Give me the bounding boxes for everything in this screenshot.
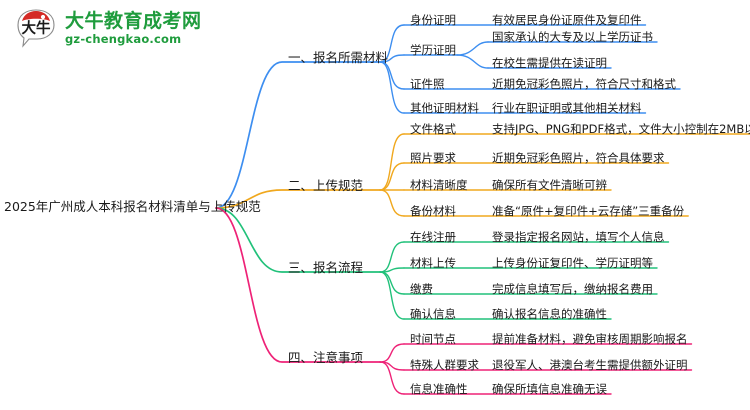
sub-label-2-1: 文件格式 [410,124,456,136]
logo-cn-name: 大牛教育成考网 [65,12,202,31]
sub-label-1-3: 证件照 [410,79,445,91]
detail-3-4: 确认报名信息的准确性 [492,309,607,321]
detail-2-2: 近期免冠彩色照片，符合具体要求 [492,153,665,165]
detail-4-3: 确保所填信息准确无误 [492,384,607,396]
mindmap-canvas: 大牛 大牛教育成考网 gz-chengkao.com 2025年广州成人本科报名… [0,0,750,410]
branch-label-2: 二、上传规范 [288,180,363,193]
detail-2-1: 支持JPG、PNG和PDF格式，文件大小控制在2MB以内 [492,124,750,136]
sub-label-3-2: 材料上传 [410,258,456,270]
svg-text:大牛: 大牛 [22,19,51,37]
detail-4-1: 提前准备材料，避免审核周期影响报名 [492,334,688,346]
detail-4-2: 退役军人、港澳台考生需提供额外证明 [492,360,688,372]
detail-1-1: 有效居民身份证原件及复印件 [492,15,642,27]
detail-1-4: 行业在职证明或其他相关材料 [492,103,642,115]
sub-label-2-2: 照片要求 [410,153,456,165]
sub-label-2-4: 备份材料 [410,206,456,218]
sub-label-3-1: 在线注册 [410,232,456,244]
sub-label-2-3: 材料清晰度 [410,180,468,192]
sub-label-4-1: 时间节点 [410,334,456,346]
sub-label-1-1: 身份证明 [410,15,456,27]
detail-2-4: 准备“原件+复印件+云存储”三重备份 [492,206,684,218]
logo-domain: gz-chengkao.com [65,34,202,46]
detail-1-3: 近期免冠彩色照片，符合尺寸和格式 [492,79,676,91]
page-title: 2025年广州成人本科报名材料清单与上传规范 [4,196,261,215]
sub-label-1-4: 其他证明材料 [410,103,479,115]
sub-label-1-2: 学历证明 [410,45,456,57]
sub-label-4-2: 特殊人群要求 [410,360,479,372]
detail-3-2: 上传身份证复印件、学历证明等 [492,258,653,270]
branch-label-1: 一、报名所需材料 [288,52,388,65]
branch-label-3: 三、报名流程 [288,262,363,275]
detail-2-3: 确保所有文件清晰可辨 [492,180,607,192]
detail-3-1: 登录指定报名网站，填写个人信息 [492,232,665,244]
daniu-speech-bubble-logo: 大牛 [14,8,58,50]
sub-label-3-3: 缴费 [410,284,433,296]
sub-label-4-3: 信息准确性 [410,384,468,396]
branch-label-4: 四、注意事项 [288,352,363,365]
detail-1-2-2: 在校生需提供在读证明 [492,58,607,70]
detail-1-2-1: 国家承认的大专及以上学历证书 [492,32,653,44]
site-logo[interactable]: 大牛 大牛教育成考网 gz-chengkao.com [14,8,202,50]
sub-label-3-4: 确认信息 [410,309,456,321]
detail-3-3: 完成信息填写后，缴纳报名费用 [492,284,653,296]
